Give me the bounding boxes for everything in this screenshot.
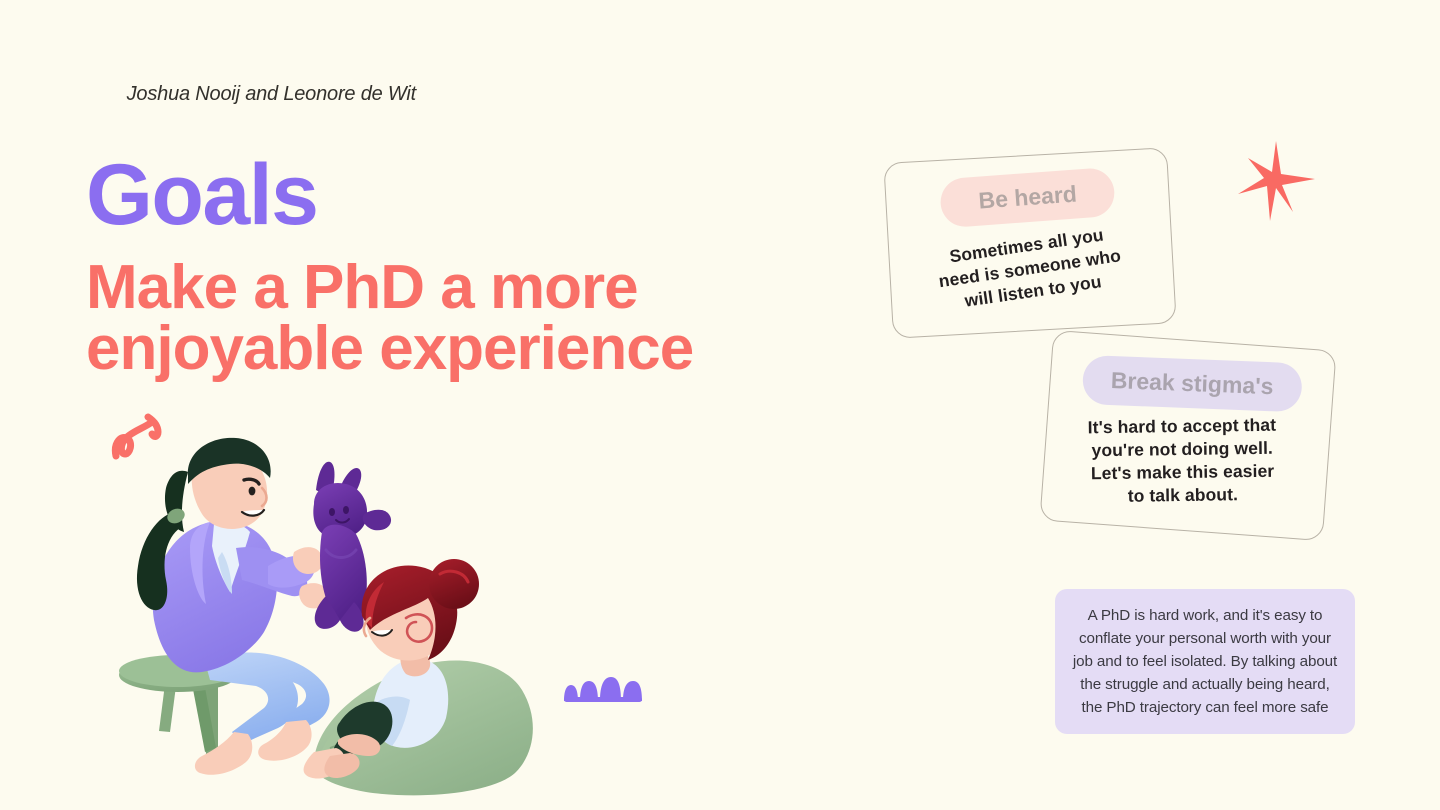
note-tag-badge: Be heard	[939, 167, 1117, 229]
note-card-content: Break stigma's It's hard to accept that …	[1040, 331, 1335, 540]
subtitle-line-1: Make a PhD a more	[86, 258, 846, 319]
note-body-text: It's hard to accept that you're not doin…	[1087, 414, 1277, 509]
slide-canvas: Joshua Nooij and Leonore de Wit Goals Ma…	[0, 0, 1440, 810]
note-card-be-heard[interactable]: Be heard Sometimes all you need is someo…	[883, 147, 1176, 339]
note-line: Let's make this easier	[1088, 460, 1277, 486]
note-line: It's hard to accept that	[1087, 414, 1276, 440]
note-line: to talk about.	[1088, 483, 1277, 509]
note-tag-badge: Break stigma's	[1082, 355, 1302, 412]
subtitle-line-2: enjoyable experience	[86, 319, 846, 380]
page-subtitle: Make a PhD a more enjoyable experience	[86, 258, 846, 380]
woman-and-child-illustration	[118, 432, 538, 807]
note-card-break-stigmas[interactable]: Break stigma's It's hard to accept that …	[1039, 330, 1336, 541]
note-line: you're not doing well.	[1088, 437, 1277, 463]
scallop-bumps-icon	[562, 672, 644, 702]
note-body-text: Sometimes all you need is someone who wi…	[934, 221, 1126, 316]
summary-text: A PhD is hard work, and it's easy to con…	[1071, 604, 1339, 719]
sparkle-star-icon	[1232, 138, 1318, 224]
summary-text-box: A PhD is hard work, and it's easy to con…	[1055, 589, 1355, 734]
page-title: Goals	[86, 152, 317, 238]
authors-line: Joshua Nooij and Leonore de Wit	[120, 82, 416, 107]
note-card-content: Be heard Sometimes all you need is someo…	[884, 148, 1175, 337]
